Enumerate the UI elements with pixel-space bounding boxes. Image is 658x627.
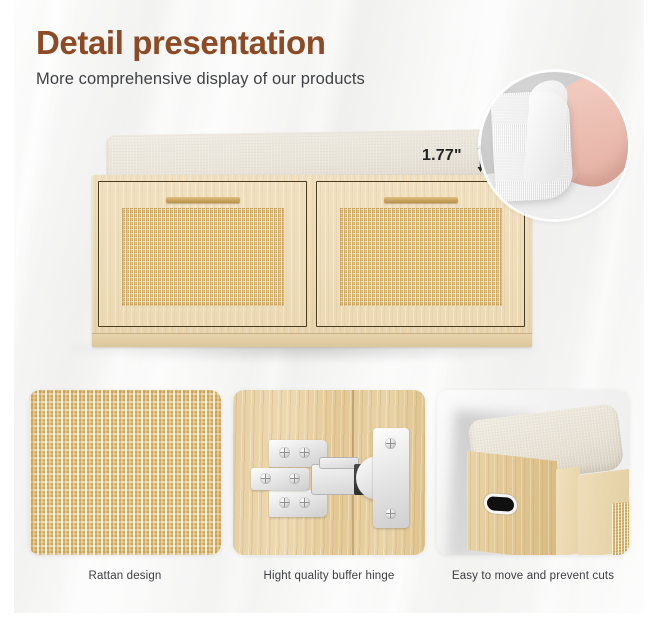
rattan-panel [121,208,284,306]
dimension-label: 1.77" [422,147,462,165]
page-title: Detail presentation [36,26,365,61]
bar-handle-icon [166,197,240,203]
foam-padding-closeup [481,72,628,219]
caption-easy-to-move: Easy to move and prevent cuts [437,570,629,582]
left-door [98,181,307,327]
bench-front-edge [556,467,580,555]
hinge-screw [289,473,300,484]
storage-bench [74,132,534,354]
bench-carcass [92,175,532,347]
bench-plinth [92,333,532,347]
foam-fold [523,79,568,185]
hinge-screw [299,447,310,458]
hinge-screw [279,447,290,458]
hinge-screw [385,508,396,519]
rattan-weave-swatch [29,390,221,555]
hinge-screw [279,497,290,508]
caption-rattan-design: Rattan design [29,570,221,582]
feature-card-easy-to-move[interactable] [437,390,629,555]
hinge-arm-link [319,457,359,469]
page-subtitle: More comprehensive display of our produc… [36,70,365,89]
feature-captions: Rattan design Hight quality buffer hinge… [14,570,644,590]
rattan-panel [339,208,502,306]
feature-card-buffer-hinge[interactable] [233,390,425,555]
hinge-screw [385,438,396,449]
feature-card-rattan-design[interactable] [29,390,221,555]
rattan-panel-corner [612,500,629,555]
caption-buffer-hinge: Hight quality buffer hinge [233,570,425,582]
header: Detail presentation More comprehensive d… [36,26,365,89]
hinge-screw [260,473,271,484]
hinge-screw [299,497,310,508]
bar-handle-icon [384,197,458,203]
cutout-handle-icon [483,493,517,515]
feature-cards [14,390,644,555]
product-detail-page: Detail presentation More comprehensive d… [0,0,658,627]
